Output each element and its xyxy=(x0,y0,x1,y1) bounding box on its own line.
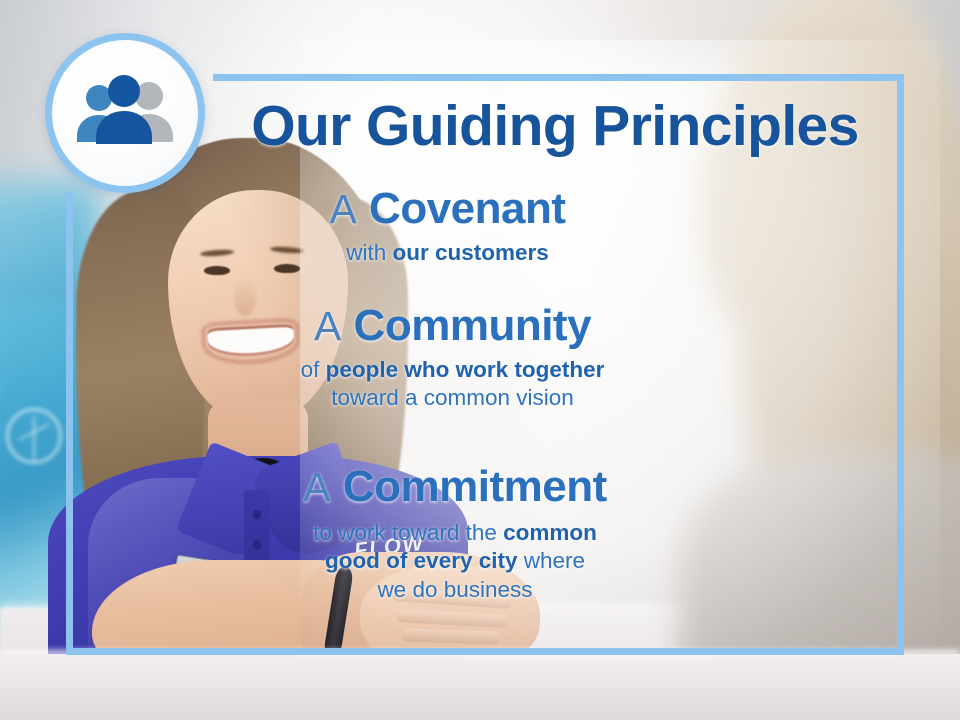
principle-covenant-sub-a: with xyxy=(346,240,392,265)
principle-commitment-line1-a: to work toward the xyxy=(313,520,503,545)
page-title: Our Guiding Principles xyxy=(215,93,895,159)
principle-covenant-keyword: Covenant xyxy=(369,184,565,233)
table-top xyxy=(0,654,960,720)
principle-commitment-keyword: Commitment xyxy=(343,462,607,511)
principle-covenant-sub-b: our customers xyxy=(392,240,548,265)
principle-commitment-article: A xyxy=(303,464,330,510)
principle-covenant-heading: A Covenant xyxy=(0,186,895,233)
principle-community-line1-b: people who work together xyxy=(326,357,605,382)
principle-commitment-subtext: to work toward the common good of every … xyxy=(0,519,910,605)
principle-community: A Community of people who work together … xyxy=(0,303,905,413)
group-people-icon xyxy=(71,74,179,152)
principle-community-line2: toward a common vision xyxy=(0,384,905,413)
principle-community-line1-a: of xyxy=(301,357,326,382)
principle-commitment-line2-b: where xyxy=(518,548,586,573)
principle-community-heading: A Community xyxy=(0,303,905,350)
principle-commitment-line2-a: good of every city xyxy=(325,548,518,573)
principle-commitment-heading: A Commitment xyxy=(0,464,910,511)
principle-commitment: A Commitment to work toward the common g… xyxy=(0,464,910,605)
principle-commitment-line1-b: common xyxy=(503,520,597,545)
principle-commitment-line3: we do business xyxy=(0,576,910,605)
principle-community-keyword: Community xyxy=(354,301,592,350)
people-medallion xyxy=(45,33,205,193)
principle-community-article: A xyxy=(314,303,341,349)
blurred-brand-logo-icon xyxy=(6,408,62,464)
guiding-principles-banner: FLOW AUTOMOTIVE FLOW xyxy=(0,0,960,720)
principle-covenant-article: A xyxy=(329,186,356,232)
principle-community-subtext: of people who work together toward a com… xyxy=(0,356,905,414)
principle-covenant-subtext: with our customers xyxy=(0,239,895,268)
principle-covenant: A Covenant with our customers xyxy=(0,186,895,267)
